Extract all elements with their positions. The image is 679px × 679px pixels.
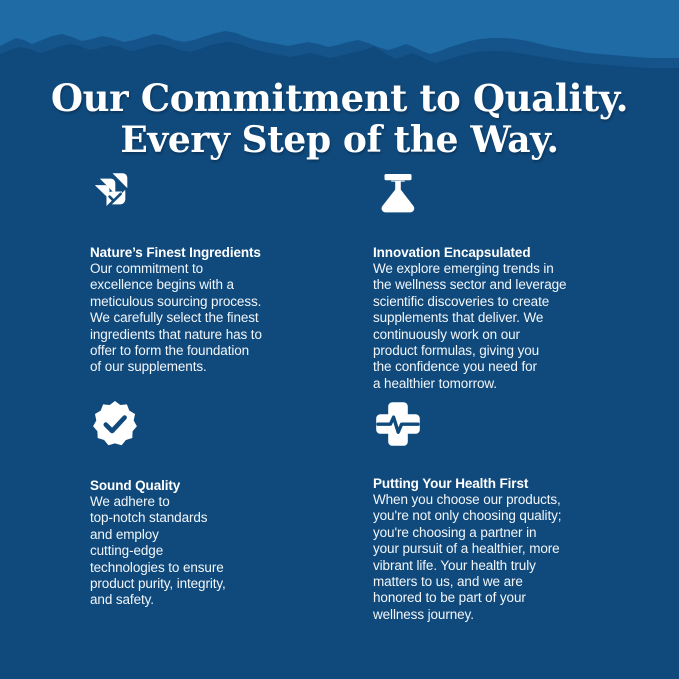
- flask-icon: [373, 170, 610, 220]
- feature-body: We explore emerging trends in the wellne…: [373, 261, 603, 392]
- torn-edge-band: [0, 0, 679, 70]
- feature-sound-quality: Sound Quality We adhere to top-notch sta…: [90, 399, 373, 623]
- feature-putting-your-health-first: Putting Your Health First When you choos…: [373, 399, 610, 623]
- page-title-line-2: Every Step of the Way.: [0, 119, 679, 161]
- feature-innovation-encapsulated: Innovation Encapsulated We explore emerg…: [373, 170, 610, 399]
- medical-cross-pulse-icon: [373, 399, 610, 449]
- feature-grid: Nature’s Finest Ingredients Our commitme…: [90, 170, 610, 623]
- feature-title: Putting Your Health First: [373, 475, 610, 492]
- leaves-icon: [90, 170, 373, 220]
- feature-title: Nature’s Finest Ingredients: [90, 244, 373, 261]
- feature-body: We adhere to top-notch standards and emp…: [90, 494, 295, 609]
- page-title-line-1: Our Commitment to Quality.: [0, 77, 679, 119]
- feature-body: When you choose our products, you're not…: [373, 492, 603, 623]
- page-title: Our Commitment to Quality. Every Step of…: [0, 77, 679, 161]
- feature-title: Sound Quality: [90, 477, 373, 494]
- quality-commitment-infographic: Our Commitment to Quality. Every Step of…: [0, 0, 679, 679]
- feature-title: Innovation Encapsulated: [373, 244, 610, 261]
- verified-badge-check-icon: [90, 399, 373, 449]
- feature-natures-finest-ingredients: Nature’s Finest Ingredients Our commitme…: [90, 170, 373, 399]
- feature-body: Our commitment to excellence begins with…: [90, 261, 295, 376]
